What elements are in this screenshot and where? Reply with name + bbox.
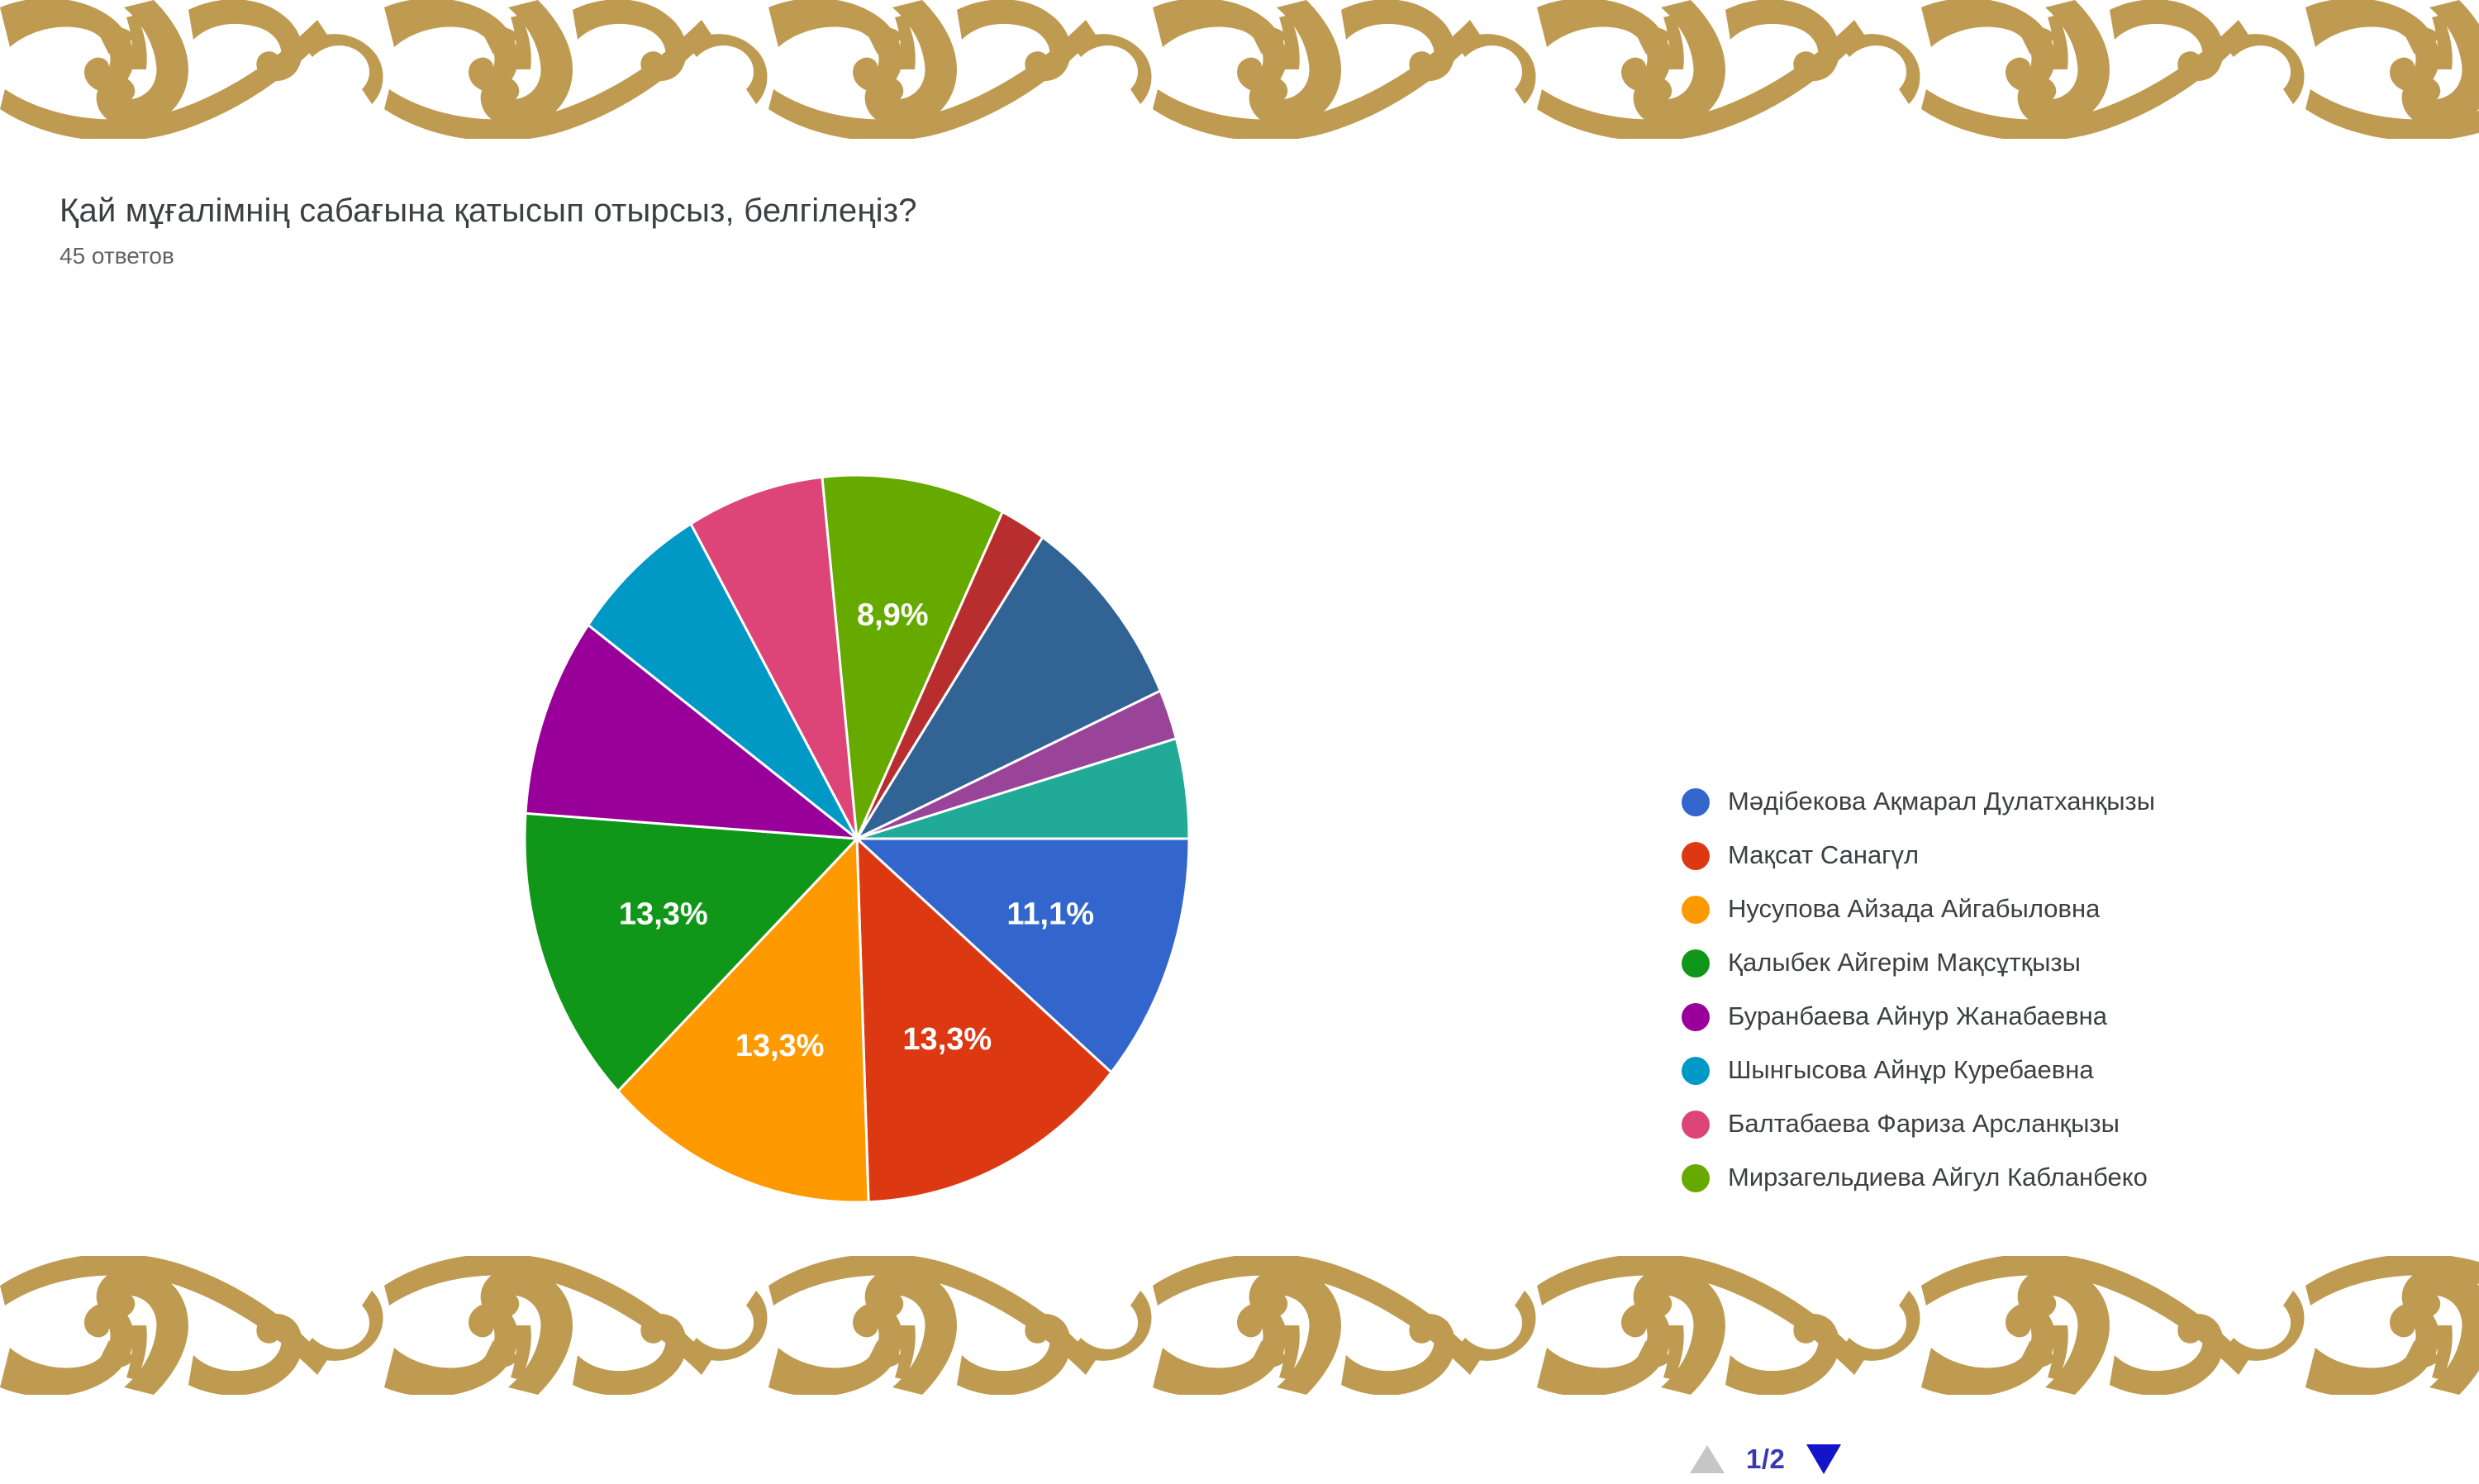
legend-item-label: Мирзагельдиева Айгул Кабланбеко [1728, 1163, 2148, 1191]
legend-color-swatch [1682, 1003, 1710, 1031]
chart-area: 11,1%13,3%13,3%13,3%8,9% Мәдібекова Ақма… [0, 296, 2479, 1254]
legend-page-count: 1/2 [1746, 1444, 1785, 1475]
legend-item[interactable]: Буранбаева Айнур Жанабаевна [1682, 990, 2479, 1044]
legend-color-swatch [1682, 949, 1710, 977]
legend-color-swatch [1682, 1057, 1710, 1085]
pie-slice-label: 13,3% [902, 1022, 992, 1057]
legend-item[interactable]: Мақсат Санагүл [1682, 829, 2479, 882]
triangle-down-icon[interactable] [1806, 1444, 1841, 1474]
legend-color-swatch [1682, 1164, 1710, 1192]
pie-slice-label: 11,1% [1006, 897, 1094, 931]
legend-item[interactable]: Нусупова Айзада Айгабыловна [1682, 882, 2479, 936]
legend-item[interactable]: Мәдібекова Ақмарал Дулатханқызы [1682, 775, 2479, 829]
pie-slice-label: 13,3% [619, 897, 708, 931]
ornament-pattern-bottom-icon [0, 1256, 2479, 1395]
legend-item[interactable]: Қалыбек Айгерім Мақсұтқызы [1682, 936, 2479, 990]
legend-item-label: Нусупова Айзада Айгабыловна [1728, 895, 2100, 923]
legend-item[interactable]: Шынгысова Айнұр Куребаевна [1682, 1044, 2479, 1097]
pie-slice-group[interactable] [525, 475, 1189, 1202]
legend-item-label: Мәдібекова Ақмарал Дулатханқызы [1728, 787, 2155, 816]
legend-item[interactable]: Балтабаева Фариза Арсланқызы [1682, 1097, 2479, 1151]
legend-item-label: Мақсат Санагүл [1728, 841, 1919, 869]
legend-color-swatch [1682, 896, 1710, 924]
pie-slice-label: 8,9% [857, 597, 929, 632]
legend-color-swatch [1682, 842, 1710, 870]
pie-chart[interactable]: 11,1%13,3%13,3%13,3%8,9% [483, 453, 1231, 1225]
legend-item-label: Шынгысова Айнұр Куребаевна [1728, 1056, 2094, 1084]
ornament-pattern-top-icon [0, 0, 2479, 139]
result-card: Қай мұғалімнің сабағына қатысып отырсыз,… [0, 139, 2479, 1256]
legend-color-swatch [1682, 1111, 1710, 1139]
chart-legend: Мәдібекова Ақмарал ДулатханқызыМақсат Са… [1682, 775, 2479, 1205]
legend-item-label: Буранбаева Айнур Жанабаевна [1728, 1002, 2107, 1030]
legend-color-swatch [1682, 788, 1710, 816]
legend-item-label: Балтабаева Фариза Арсланқызы [1728, 1110, 2120, 1138]
ornament-border-bottom [0, 1256, 2479, 1395]
ornament-border-top [0, 0, 2479, 139]
page-title: Қай мұғалімнің сабағына қатысып отырсыз,… [59, 190, 917, 231]
response-count-label: 45 ответов [59, 243, 174, 269]
legend-item-label: Қалыбек Айгерім Мақсұтқызы [1728, 949, 2081, 977]
triangle-up-icon[interactable] [1690, 1445, 1725, 1473]
legend-pagination[interactable]: 1/2 [1690, 1434, 1841, 1484]
legend-item[interactable]: Мирзагельдиева Айгул Кабланбеко [1682, 1151, 2479, 1205]
pie-slice-label: 13,3% [735, 1029, 825, 1063]
pie-chart-svg[interactable]: 11,1%13,3%13,3%13,3%8,9% [483, 453, 1231, 1225]
